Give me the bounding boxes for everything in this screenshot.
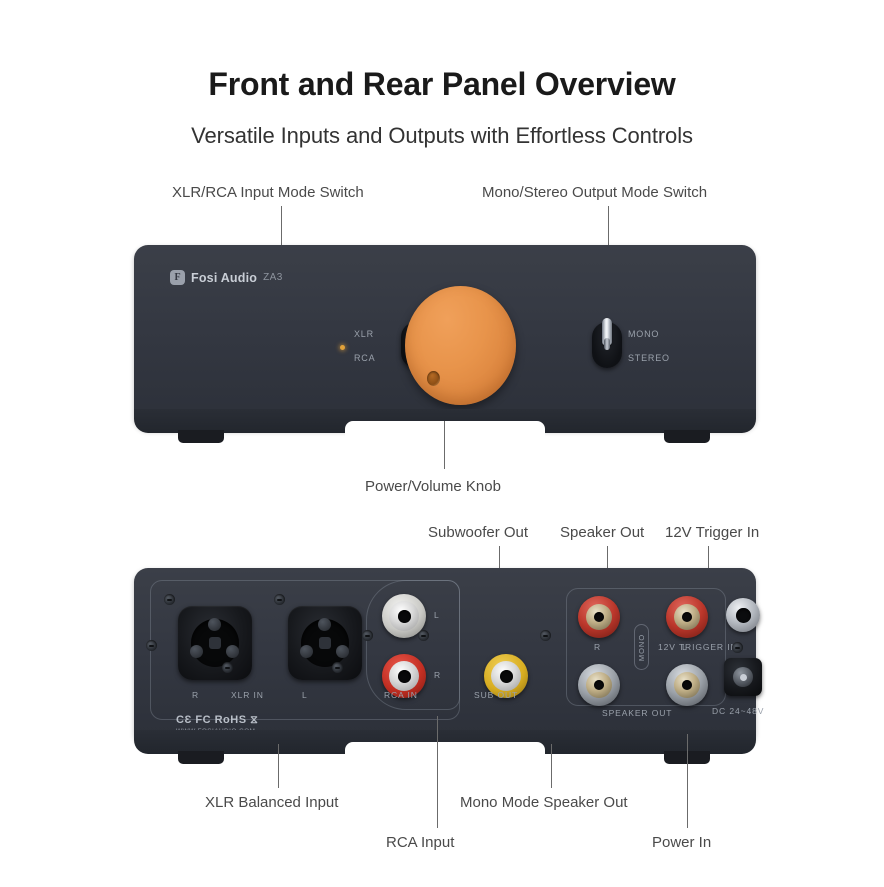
speaker-post-right-negative[interactable]: [578, 664, 620, 706]
output-switch-body[interactable]: [592, 322, 622, 368]
label-12v-trigger-in: 12V TRIGGER IN: [658, 642, 738, 652]
post-hole: [682, 680, 692, 690]
label-rca-left: L: [434, 610, 440, 620]
brand-name-label: Fosi Audio: [191, 271, 257, 285]
speaker-post-left-positive[interactable]: [666, 596, 708, 638]
leader-line-xlr-balanced-input: [278, 744, 279, 788]
leader-line-rca-input-lower: [437, 788, 438, 828]
output-switch-label-mono: MONO: [628, 329, 659, 339]
sub-out-ring: [491, 661, 521, 691]
xlr-pin: [226, 645, 239, 658]
xlr-pin: [190, 645, 203, 658]
rear-foot-left: [178, 751, 224, 764]
speaker-post-left-negative[interactable]: [666, 664, 708, 706]
front-panel-device: F Fosi Audio ZA3 XLR RCA VOL / ⏻ MONO ST…: [134, 245, 756, 430]
dc-power-input-jack[interactable]: [724, 658, 762, 696]
label-rca-in: RCA IN: [384, 690, 418, 700]
panel-screw: [540, 630, 551, 641]
label-xlr-left: L: [302, 690, 308, 700]
panel-screw: [274, 594, 285, 605]
output-mode-switch[interactable]: MONO STEREO: [572, 317, 642, 373]
dc-jack-pin: [740, 674, 747, 681]
rca-left-ring: [389, 601, 419, 631]
callout-power-in: Power In: [652, 834, 711, 851]
callout-xlr-balanced-input: XLR Balanced Input: [205, 794, 338, 811]
mono-mode-bracket: MONO: [634, 624, 649, 670]
output-switch-lever[interactable]: [602, 318, 612, 345]
callout-mono-stereo-output-mode-switch: Mono/Stereo Output Mode Switch: [482, 184, 707, 201]
input-switch-label-rca: RCA: [354, 353, 375, 363]
leader-line-rca-input: [437, 716, 438, 788]
page-title: Front and Rear Panel Overview: [0, 66, 884, 103]
cert-marks: CƐ FC RoHS ⧖: [176, 714, 258, 727]
xlr-pin: [318, 618, 331, 631]
leader-line-volume-knob: [444, 421, 445, 469]
post-hole: [594, 680, 604, 690]
brand-model-label: ZA3: [263, 272, 283, 283]
rca-right-ring: [389, 661, 419, 691]
callout-speaker-out: Speaker Out: [560, 524, 644, 541]
callout-rca-input: RCA Input: [386, 834, 454, 851]
sub-out-hole: [500, 670, 513, 683]
label-xlr-right: R: [192, 690, 199, 700]
label-speaker-out: SPEAKER OUT: [602, 708, 672, 718]
leader-line-mono-mode-speaker-out: [551, 744, 552, 788]
label-xlr-in: XLR IN: [231, 690, 264, 700]
callout-subwoofer-out: Subwoofer Out: [428, 524, 528, 541]
rear-panel-device: R XLR IN L L R RCA IN SUB: [134, 568, 756, 746]
post-hole: [594, 612, 604, 622]
panel-screw: [164, 594, 175, 605]
label-speaker-right: R: [594, 642, 601, 652]
dc-jack-ring: [733, 667, 753, 687]
panel-screw: [732, 642, 743, 653]
xlr-pin: [208, 618, 221, 631]
input-switch-label-xlr: XLR: [354, 329, 374, 339]
fosi-logo-icon: F: [170, 270, 185, 285]
panel-screw: [332, 662, 343, 673]
xlr-pin: [300, 645, 313, 658]
brand-logo: F Fosi Audio ZA3: [170, 270, 283, 285]
rca-right-hole: [398, 670, 411, 683]
power-led-indicator: [340, 345, 345, 350]
panel-screw: [146, 640, 157, 651]
xlr-jack-left[interactable]: [288, 606, 362, 680]
xlr-jack-right-center: [209, 637, 221, 649]
knob-position-indicator: [427, 371, 440, 386]
label-rca-right: R: [434, 670, 441, 680]
xlr-jack-right-hole: [191, 619, 239, 667]
label-mono: MONO: [637, 633, 646, 660]
front-foot-left: [178, 430, 224, 443]
trigger-input-jack[interactable]: [726, 598, 760, 632]
trigger-jack-hole: [736, 608, 751, 623]
product-overview-page: Front and Rear Panel Overview Versatile …: [0, 0, 884, 887]
label-dc-in: DC 24~48V: [712, 706, 764, 716]
speaker-post-right-positive[interactable]: [578, 596, 620, 638]
page-subtitle: Versatile Inputs and Outputs with Effort…: [0, 123, 884, 149]
callout-power-volume-knob: Power/Volume Knob: [365, 478, 501, 495]
post-inner: [674, 672, 700, 698]
panel-screw: [418, 630, 429, 641]
callout-xlr-rca-input-mode-switch: XLR/RCA Input Mode Switch: [172, 184, 364, 201]
rear-panel-notch: [345, 742, 545, 758]
label-sub-out: SUB OUT: [474, 690, 518, 700]
rca-left-hole: [398, 610, 411, 623]
front-panel-notch: [345, 421, 545, 437]
power-volume-knob[interactable]: [405, 286, 516, 405]
post-inner: [586, 604, 612, 630]
post-inner: [586, 672, 612, 698]
callout-mono-mode-speaker-out: Mono Mode Speaker Out: [460, 794, 628, 811]
panel-screw: [362, 630, 373, 641]
front-foot-right: [664, 430, 710, 443]
xlr-jack-left-center: [319, 637, 331, 649]
xlr-jack-right[interactable]: [178, 606, 252, 680]
panel-screw: [222, 662, 233, 673]
post-hole: [682, 612, 692, 622]
post-inner: [674, 604, 700, 630]
xlr-pin: [336, 645, 349, 658]
callout-12v-trigger-in: 12V Trigger In: [665, 524, 759, 541]
xlr-jack-left-hole: [301, 619, 349, 667]
leader-line-power-in: [687, 734, 688, 828]
output-switch-label-stereo: STEREO: [628, 353, 670, 363]
